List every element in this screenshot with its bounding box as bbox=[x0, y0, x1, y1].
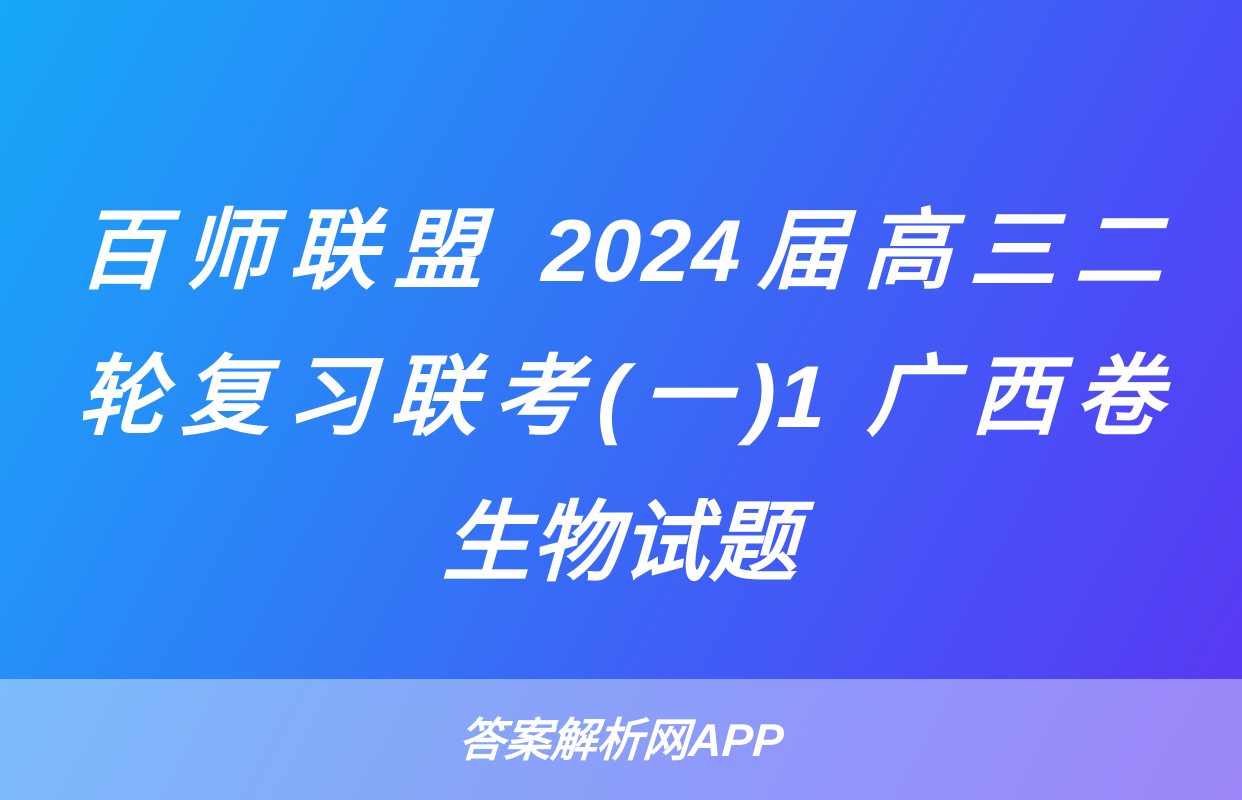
title-line-1: 百师联盟 2024届高三二 bbox=[75, 178, 1166, 324]
title-line-2: 轮复习联考(一)1 广西卷 bbox=[75, 324, 1166, 470]
watermark-band: 答案解析网APP bbox=[0, 679, 1242, 800]
page-title: 百师联盟 2024届高三二 轮复习联考(一)1 广西卷 生物试题 bbox=[0, 178, 1242, 616]
exam-paper-cover: 百师联盟 2024届高三二 轮复习联考(一)1 广西卷 生物试题 答案解析网AP… bbox=[0, 0, 1242, 800]
watermark-label: 答案解析网APP bbox=[457, 717, 785, 763]
title-line-3: 生物试题 bbox=[75, 470, 1166, 616]
